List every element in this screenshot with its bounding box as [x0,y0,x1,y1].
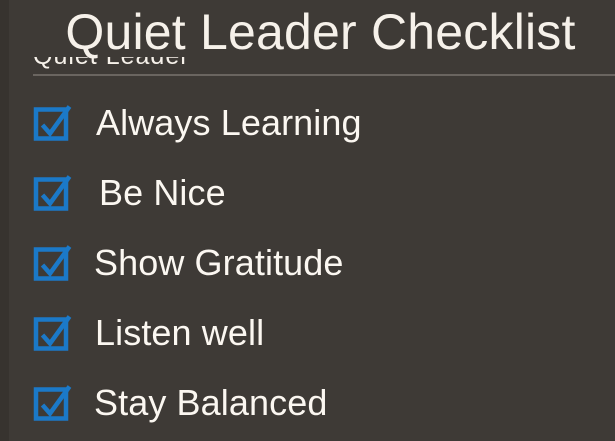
checked-checkbox-icon[interactable] [33,247,66,280]
title-divider [33,74,615,76]
checked-checkbox-icon[interactable] [33,107,66,140]
checked-checkbox-icon[interactable] [33,317,66,350]
list-item[interactable]: Stay Balanced [0,368,615,438]
list-item-label: Show Gratitude [94,243,344,283]
checked-checkbox-icon[interactable] [33,177,66,210]
list-item[interactable]: Listen well [0,298,615,368]
checklist-slide: Quiet Leader Checklist Quiet Leader Alwa… [0,0,615,441]
checked-checkbox-icon[interactable] [33,387,66,420]
list-item[interactable]: Be Nice [0,158,615,228]
list-item[interactable]: Show Gratitude [0,228,615,298]
list-item-label: Listen well [95,313,264,353]
list-item-label: Stay Balanced [94,383,327,423]
clipped-subline-text: Quiet Leader [33,57,190,71]
checklist: Always Learning Be Nice Show Gratitude [0,88,615,438]
list-item-label: Be Nice [99,173,226,213]
list-item[interactable]: Always Learning [0,88,615,158]
clipped-subline: Quiet Leader [33,57,233,74]
list-item-label: Always Learning [96,103,362,143]
